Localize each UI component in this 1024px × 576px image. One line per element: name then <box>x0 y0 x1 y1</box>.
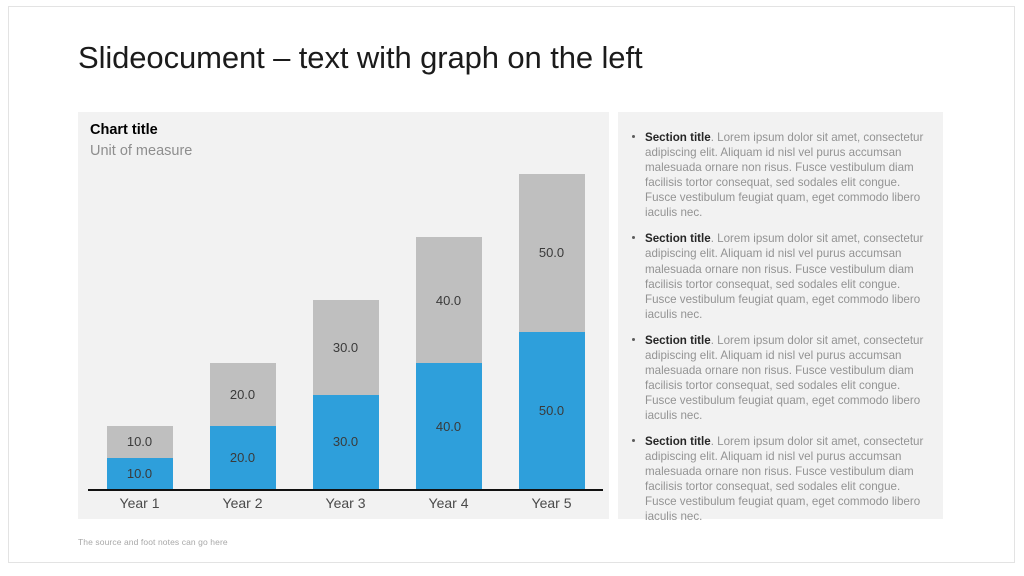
bar-value-label: 50.0 <box>539 404 564 417</box>
bar-value-label: 20.0 <box>230 388 255 401</box>
x-axis-label: Year 4 <box>398 495 499 511</box>
bar-segment-blue[interactable]: 10.0 <box>107 458 173 490</box>
list-item: Section title. Lorem ipsum dolor sit ame… <box>628 434 929 524</box>
section-title: Section title <box>645 131 711 144</box>
x-axis-label: Year 5 <box>501 495 602 511</box>
bar-group: 10.010.0 <box>89 174 190 489</box>
bar-value-label: 20.0 <box>230 451 255 464</box>
bar-segment-blue[interactable]: 30.0 <box>313 395 379 490</box>
bar-value-label: 40.0 <box>436 420 461 433</box>
list-item: Section title. Lorem ipsum dolor sit ame… <box>628 130 929 220</box>
x-axis-tick-labels: Year 1Year 2Year 3Year 4Year 5 <box>88 495 603 511</box>
bar-segment-gray[interactable]: 10.0 <box>107 426 173 458</box>
bar-group: 20.020.0 <box>192 174 293 489</box>
section-title: Section title <box>645 334 711 347</box>
bar-group: 30.030.0 <box>295 174 396 489</box>
bullet-dot-icon <box>632 338 635 341</box>
chart-subtitle: Unit of measure <box>90 143 192 159</box>
chart-panel: Chart title Unit of measure 10.010.020.0… <box>78 112 609 519</box>
bar-value-label: 40.0 <box>436 294 461 307</box>
bullet-dot-icon <box>632 135 635 138</box>
text-panel: Section title. Lorem ipsum dolor sit ame… <box>618 112 943 519</box>
x-axis-label: Year 1 <box>89 495 190 511</box>
list-item: Section title. Lorem ipsum dolor sit ame… <box>628 231 929 321</box>
x-axis-line <box>88 489 603 491</box>
bar-segment-gray[interactable]: 40.0 <box>416 237 482 363</box>
footnote-text: The source and foot notes can go here <box>78 537 228 547</box>
chart-title: Chart title <box>90 122 158 138</box>
list-item: Section title. Lorem ipsum dolor sit ame… <box>628 333 929 423</box>
section-title: Section title <box>645 435 711 448</box>
page-title: Slideocument – text with graph on the le… <box>78 40 938 76</box>
bar-segment-blue[interactable]: 20.0 <box>210 426 276 489</box>
x-axis-label: Year 3 <box>295 495 396 511</box>
section-title: Section title <box>645 232 711 245</box>
bar-segment-blue[interactable]: 40.0 <box>416 363 482 489</box>
bar-value-label: 10.0 <box>127 467 152 480</box>
stacked-bar[interactable]: 40.040.0 <box>416 237 482 489</box>
section-body: . Lorem ipsum dolor sit amet, consectetu… <box>645 131 923 219</box>
bar-group: 40.040.0 <box>398 174 499 489</box>
bar-segment-gray[interactable]: 50.0 <box>519 174 585 332</box>
chart-plot-area: 10.010.020.020.030.030.040.040.050.050.0 <box>88 174 603 489</box>
slide-canvas: Slideocument – text with graph on the le… <box>0 0 1024 576</box>
bar-value-label: 30.0 <box>333 435 358 448</box>
section-body: . Lorem ipsum dolor sit amet, consectetu… <box>645 232 923 320</box>
stacked-bar[interactable]: 10.010.0 <box>107 426 173 489</box>
x-axis-label: Year 2 <box>192 495 293 511</box>
stacked-bar[interactable]: 20.020.0 <box>210 363 276 489</box>
bar-group: 50.050.0 <box>501 174 602 489</box>
bar-value-label: 50.0 <box>539 246 564 259</box>
stacked-bar[interactable]: 30.030.0 <box>313 300 379 489</box>
stacked-bar[interactable]: 50.050.0 <box>519 174 585 489</box>
bullet-dot-icon <box>632 439 635 442</box>
bar-value-label: 30.0 <box>333 341 358 354</box>
bar-segment-blue[interactable]: 50.0 <box>519 332 585 490</box>
bar-segment-gray[interactable]: 30.0 <box>313 300 379 395</box>
bar-segment-gray[interactable]: 20.0 <box>210 363 276 426</box>
bullet-dot-icon <box>632 236 635 239</box>
bar-series-container: 10.010.020.020.030.030.040.040.050.050.0 <box>88 174 603 489</box>
section-body: . Lorem ipsum dolor sit amet, consectetu… <box>645 435 923 523</box>
bar-value-label: 10.0 <box>127 435 152 448</box>
